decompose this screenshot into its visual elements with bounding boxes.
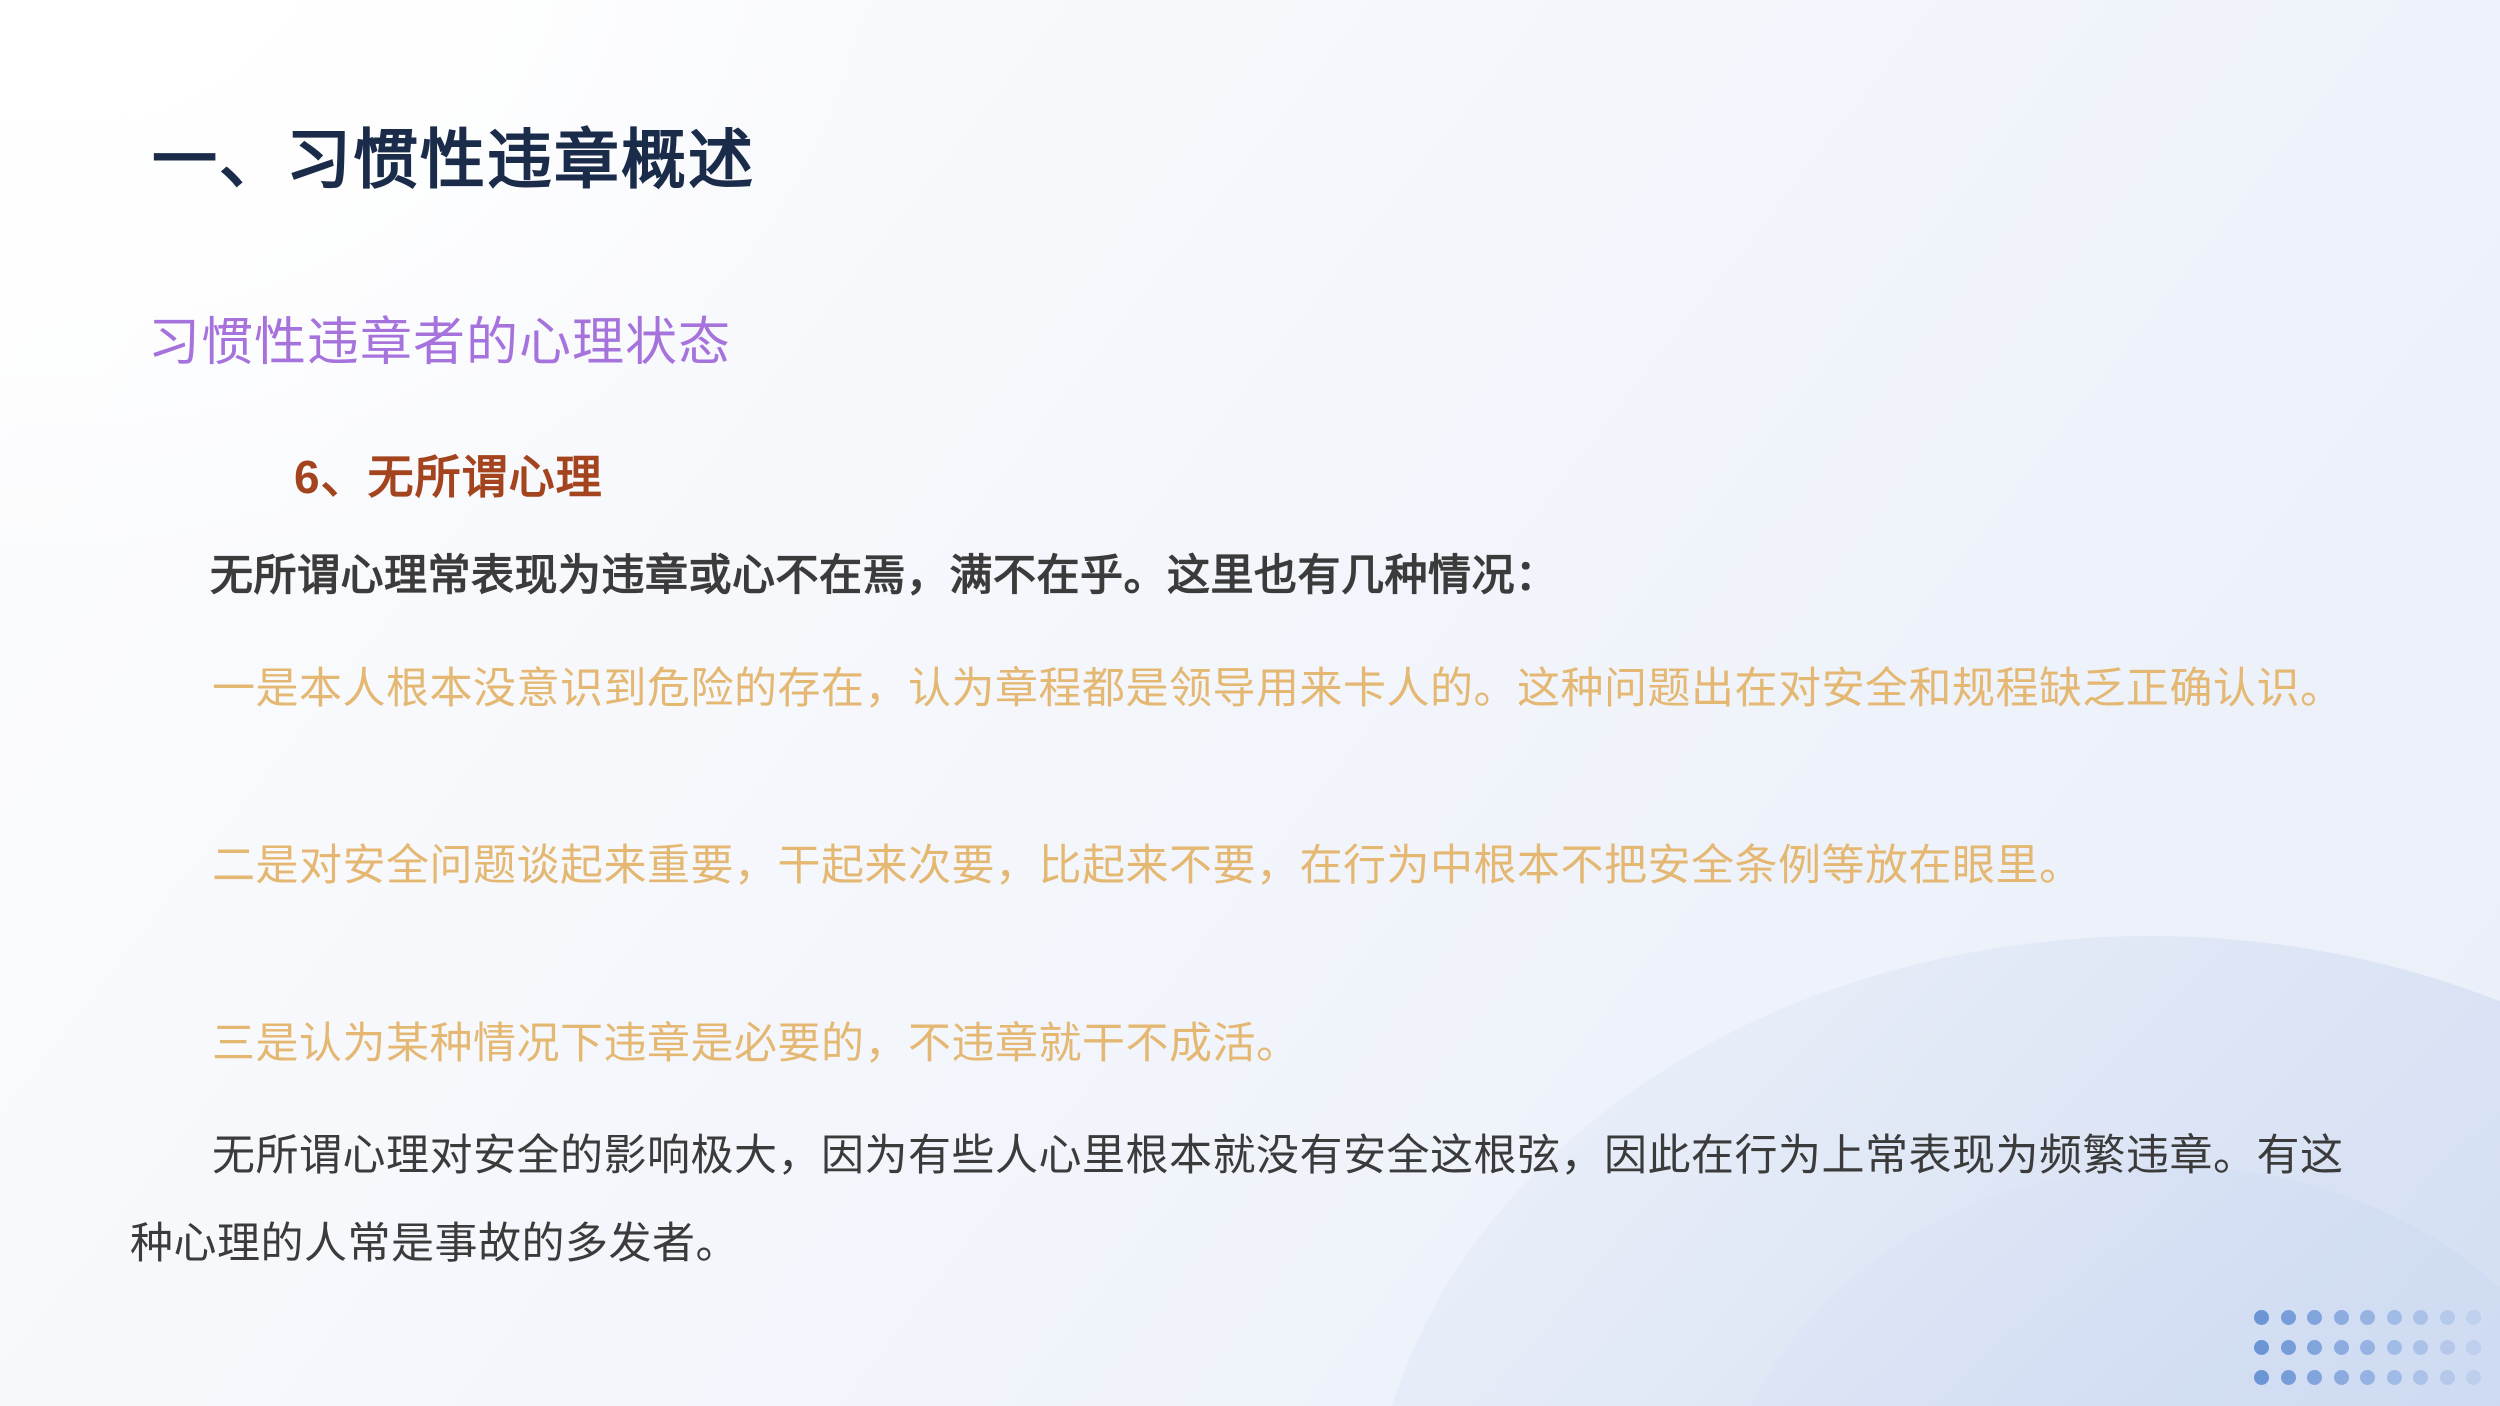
lead-statement: 无所谓心理常表现为违章或心不在焉，满不在乎。这里也有几种情况： xyxy=(210,541,1559,603)
dot xyxy=(2360,1370,2375,1385)
body-paragraph-two: 二是对安全问题谈起来重要，干起来次要，比起来不要，在行为中根本不把安全条例等放在… xyxy=(130,822,2380,910)
dot xyxy=(2254,1340,2269,1355)
dot xyxy=(2466,1370,2481,1385)
dot xyxy=(2387,1340,2402,1355)
dot xyxy=(2360,1340,2375,1355)
dot xyxy=(2413,1370,2428,1385)
dot-grid-decoration xyxy=(2254,1310,2493,1400)
dot xyxy=(2334,1310,2349,1325)
body-paragraph-three: 三是认为某种情况下违章是必要的，不违章就干不成活。 xyxy=(130,1000,2380,1088)
dot xyxy=(2254,1310,2269,1325)
dot xyxy=(2307,1310,2322,1325)
dot xyxy=(2334,1340,2349,1355)
dot xyxy=(2440,1310,2455,1325)
section-subtitle: 习惯性违章者的心理状态 xyxy=(148,300,731,375)
dot xyxy=(2440,1370,2455,1385)
body-paragraph-summary: 无所谓心理对安全的影响极大，因为有些人心里根本就没有安全这根弦，因此在行为上常表… xyxy=(130,1112,2380,1288)
dot xyxy=(2307,1340,2322,1355)
dot xyxy=(2413,1310,2428,1325)
dot xyxy=(2281,1310,2296,1325)
numbered-section-heading: 6、无所谓心理 xyxy=(294,441,603,507)
dot xyxy=(2334,1370,2349,1385)
dot xyxy=(2387,1310,2402,1325)
dot xyxy=(2466,1340,2481,1355)
dot xyxy=(2307,1370,2322,1385)
dot xyxy=(2466,1310,2481,1325)
dot xyxy=(2360,1310,2375,1325)
dot xyxy=(2281,1340,2296,1355)
slide-canvas: 一、习惯性违章概述 习惯性违章者的心理状态 6、无所谓心理 无所谓心理常表现为违… xyxy=(0,0,2500,1406)
page-title: 一、习惯性违章概述 xyxy=(152,107,755,201)
dot xyxy=(2387,1370,2402,1385)
dot xyxy=(2254,1370,2269,1385)
body-paragraph-one: 一是本人根本没意识到危险的存在，认为章程都是领导用来卡人的。这种问题出在对安全和… xyxy=(130,645,2380,733)
dot xyxy=(2281,1370,2296,1385)
dot xyxy=(2413,1340,2428,1355)
dot xyxy=(2440,1340,2455,1355)
